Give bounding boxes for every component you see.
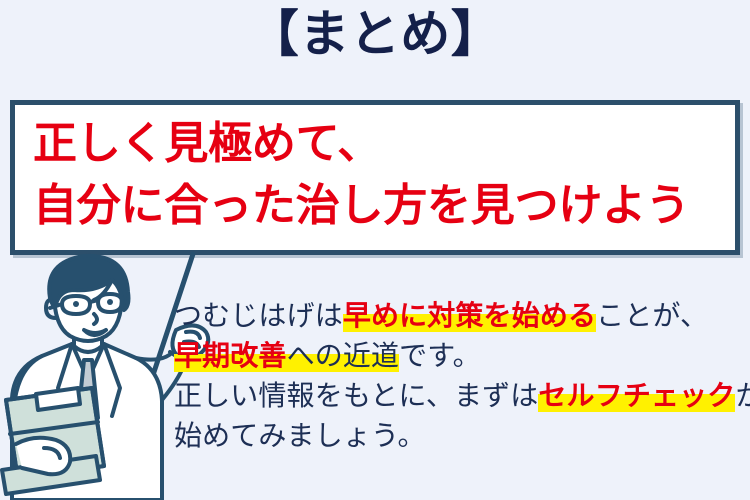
body-emphasis-text: セルフチェック (538, 379, 735, 412)
body-plain-text: 正しい情報をもとに、まずは (174, 379, 538, 412)
body-paragraph: つむじはげは早めに対策を始めることが、 早期改善への近道です。 正しい情報をもと… (174, 296, 744, 456)
key-message-lines: 正しく見極めて、 自分に合った治し方を見つけよう (33, 113, 729, 238)
body-plain-text: ことが、 (596, 299, 708, 332)
body-plain-text: つむじはげは (174, 299, 343, 332)
eye-left (73, 301, 79, 307)
body-emphasis-text: 早期改善 (174, 339, 287, 372)
body-line-1: つむじはげは早めに対策を始めることが、 (174, 296, 744, 336)
body-emphasis-text: 早めに対策を始める (343, 299, 596, 332)
body-line-2: 早期改善への近道です。 (174, 336, 744, 376)
body-highlight-text: への近道 (287, 339, 400, 372)
hand-left (16, 438, 70, 475)
key-message-line-2: 自分に合った治し方を見つけよう (33, 175, 729, 237)
summary-slide: 【まとめ】 正しく見極めて、 自分に合った治し方を見つけよう (0, 0, 750, 500)
body-plain-text: 始めてみましょう。 (174, 419, 426, 452)
body-line-4: 始めてみましょう。 (174, 416, 744, 456)
key-message-box: 正しく見極めて、 自分に合った治し方を見つけよう (10, 100, 740, 255)
clipboard-clip (36, 388, 80, 410)
body-plain-text: から (735, 379, 750, 412)
key-message-line-1: 正しく見極めて、 (33, 113, 729, 175)
body-plain-text: です。 (399, 339, 481, 372)
page-title: 【まとめ】 (0, 8, 750, 61)
body-line-3: 正しい情報をもとに、まずはセルフチェックから (174, 376, 744, 416)
eye-right (107, 299, 113, 305)
